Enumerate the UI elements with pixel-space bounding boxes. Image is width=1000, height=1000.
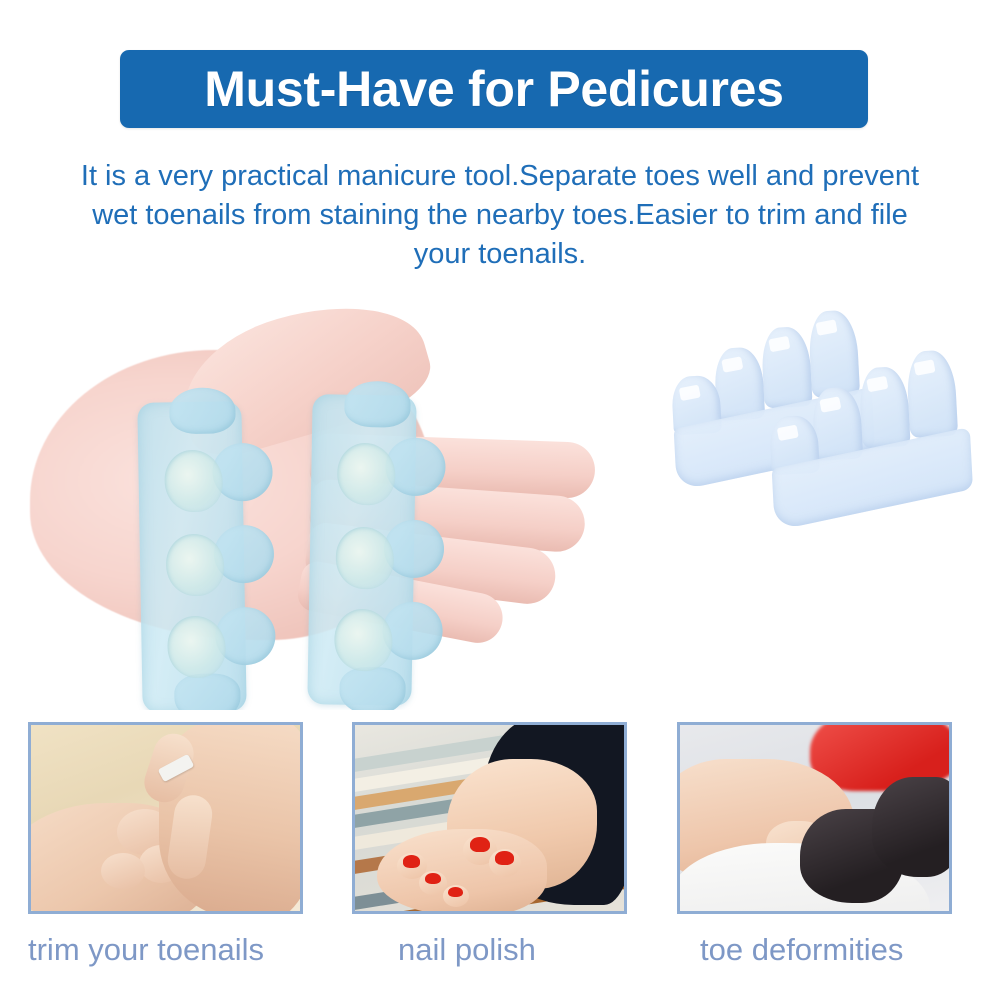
toe-shape [101,853,145,889]
separator-toe-slot [335,527,394,590]
separator-prong [859,366,911,448]
header-banner: Must-Have for Pedicures [120,50,868,128]
usage-panel-trim-your-toenails [28,722,303,914]
caption-toe-deformities: toe deformities [700,928,903,972]
separator-prong [714,346,766,420]
page-title: Must-Have for Pedicures [204,64,783,114]
separator-toe-slot [337,443,396,506]
separator-lobe [169,387,236,434]
photo-trim-toenails [31,725,300,911]
separator-lobe [174,673,241,710]
separator-prong [812,386,864,460]
painted-toe [489,849,521,877]
hand-illustration [10,320,590,650]
separator-toe-slot [334,609,393,672]
separator-lobe [382,601,443,660]
toe-separator-flat-right [307,394,416,706]
painted-toe [443,885,469,907]
product-infographic-page: Must-Have for Pedicures It is a very pra… [0,0,1000,1000]
separator-lobe [339,667,406,710]
photo-toe-deformities [680,725,949,911]
black-glove-shape [872,777,949,877]
usage-panel-toe-deformities [677,722,952,914]
subtitle-description: It is a very practical manicure tool.Sep… [60,157,940,274]
separator-prong [906,350,958,438]
usage-panel-nail-polish [352,722,627,914]
caption-trim-your-toenails: trim your toenails [28,928,264,972]
toe-separator-standing-front [766,355,974,515]
usage-panel-row [0,722,1000,922]
caption-row: trim your toenails nail polish toe defor… [0,928,1000,988]
hero-product-image [0,280,1000,710]
separator-lobe [344,381,411,428]
photo-nail-polish [355,725,624,911]
toe-separator-flat-left [137,401,246,710]
caption-nail-polish: nail polish [398,928,536,972]
